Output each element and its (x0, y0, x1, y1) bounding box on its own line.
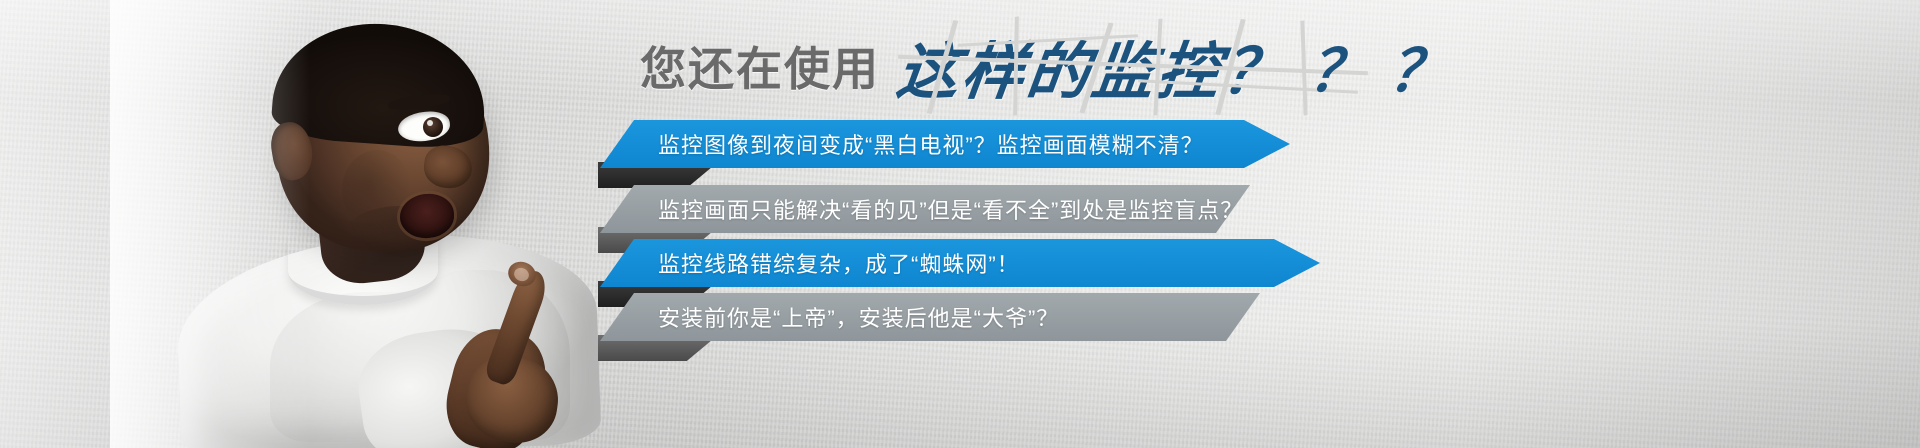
pain-point-row-2: 监控画面只能解决“看的见”但是“看不全”到处是监控盲点？ (600, 185, 1250, 233)
pain-point-row-1: 监控图像到夜间变成“黑白电视”？监控画面模糊不清？ (600, 120, 1290, 168)
headline-question-mark-2: ？ (1385, 24, 1453, 108)
pain-point-row-3: 监控线路错综复杂，成了“蜘蛛网”！ (600, 239, 1320, 287)
headline-question-mark-1: ？ (1305, 24, 1373, 108)
headline-lead: 您还在使用 (640, 33, 880, 99)
promo-banner: 您还在使用 这样的监控？ ？ ？ 监控图像到夜间变成“黑白电视”？监控画面模糊不… (0, 0, 1920, 448)
iris (423, 117, 443, 137)
pain-point-row-4: 安装前你是“上帝”，安装后他是“大爷”？ (600, 293, 1260, 341)
headline-emphasis-wrap: 这样的监控？ (898, 21, 1288, 111)
pain-point-text: 安装前你是“上帝”，安装后他是“大爷”？ (658, 301, 1059, 333)
pain-point-text: 监控图像到夜间变成“黑白电视”？监控画面模糊不清？ (658, 128, 1204, 160)
headline: 您还在使用 这样的监控？ ？ ？ (640, 20, 1880, 112)
photo-edge-fade (110, 0, 310, 448)
pain-point-text: 监控线路错综复杂，成了“蜘蛛网”！ (658, 247, 1020, 279)
eye-glint (427, 120, 433, 126)
headline-emphasis: 这样的监控？ (892, 21, 1293, 111)
pain-point-text: 监控画面只能解决“看的见”但是“看不全”到处是监控盲点？ (658, 193, 1243, 225)
person-photo (150, 0, 670, 448)
